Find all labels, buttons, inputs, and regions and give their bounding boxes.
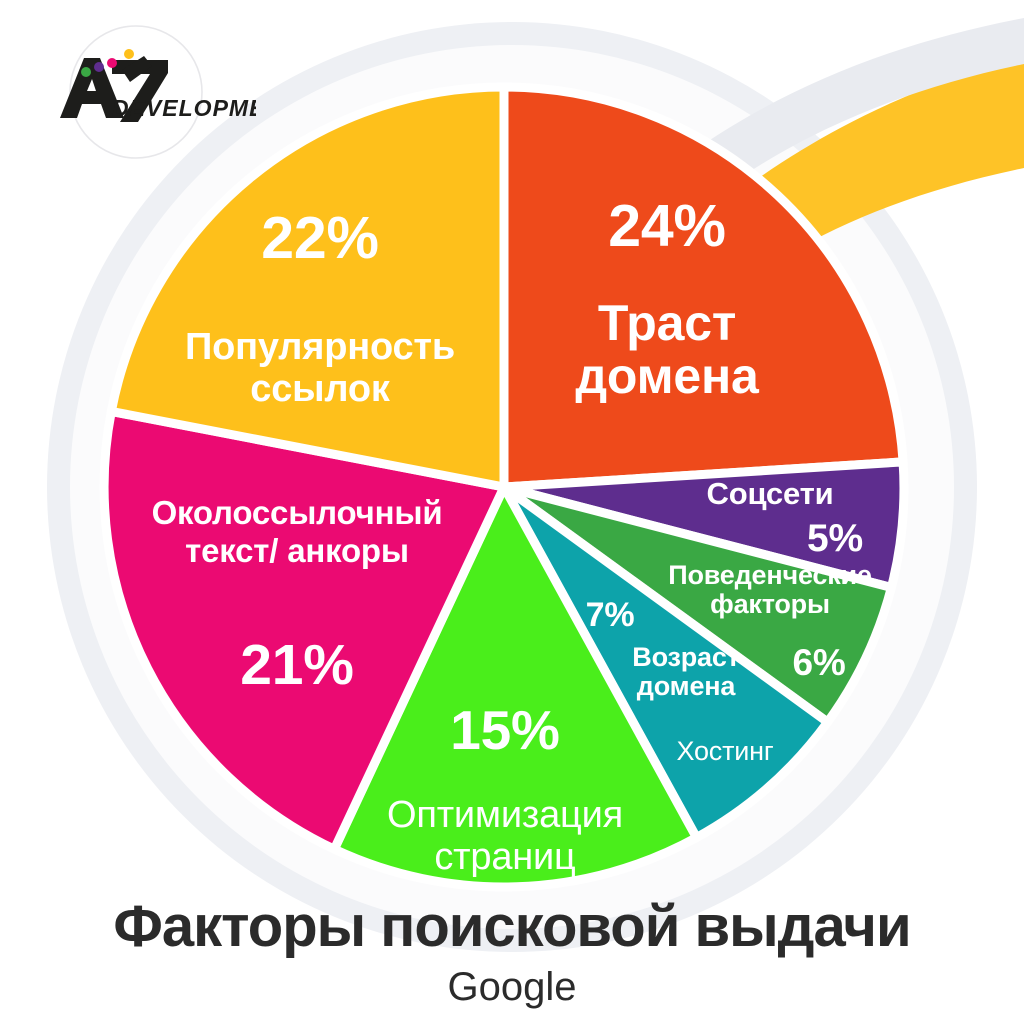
logo-dot-magenta xyxy=(107,58,117,68)
title-block: Факторы поисковой выдачи Google xyxy=(0,898,1024,1007)
pie-chart xyxy=(0,0,1024,1024)
pie-slices xyxy=(104,87,904,887)
brand-logo: DEVELOPMENT xyxy=(26,40,256,140)
logo-dot-purple xyxy=(94,62,104,72)
pie-slice-trust[interactable] xyxy=(504,87,903,487)
logo-dot-green xyxy=(81,67,91,77)
logo-wordmark: DEVELOPMENT xyxy=(112,95,256,121)
chart-subtitle: Google xyxy=(0,967,1024,1007)
chart-title: Факторы поисковой выдачи xyxy=(0,898,1024,956)
logo-dot-yellow xyxy=(124,49,134,59)
pie-slice-link-popularity[interactable] xyxy=(111,87,504,487)
